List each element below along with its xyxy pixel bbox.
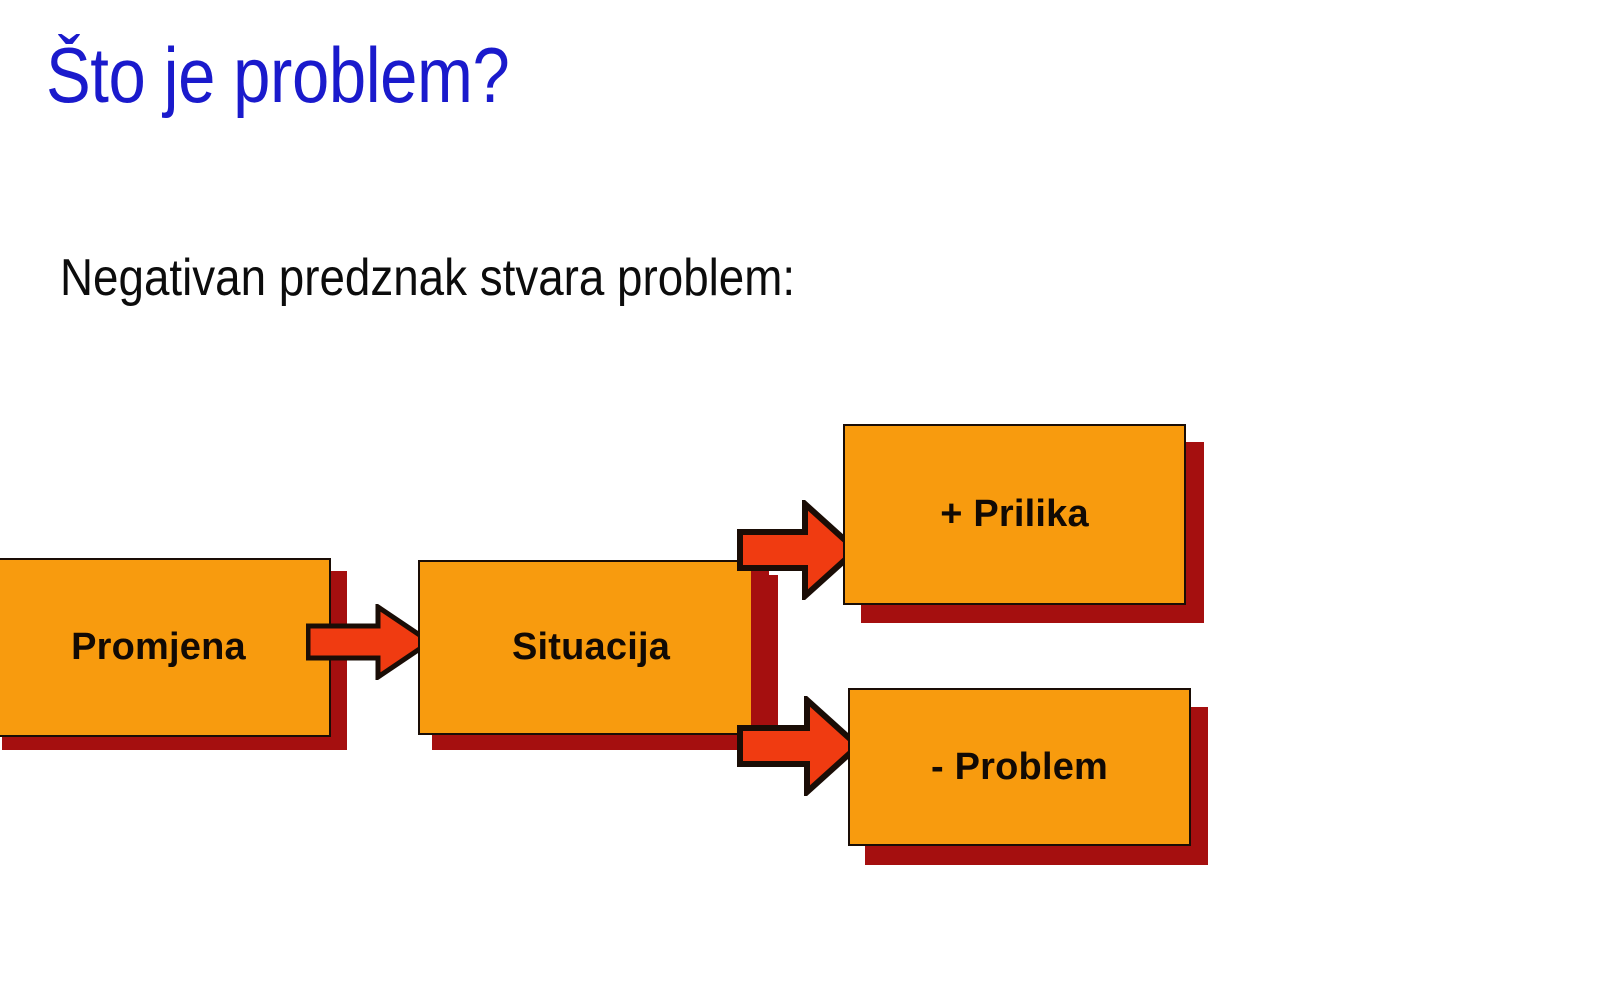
right-arrow-icon bbox=[306, 604, 432, 680]
right-arrow-icon bbox=[737, 500, 859, 600]
node-label: + Prilika bbox=[845, 426, 1184, 603]
slide-canvas: Što je problem? Negativan predznak stvar… bbox=[0, 0, 1600, 1000]
diagram-node-promjena[interactable]: Promjena bbox=[0, 558, 347, 750]
node-label: Promjena bbox=[0, 560, 329, 735]
flow-diagram: Promjena Situacija + bbox=[0, 0, 1600, 1000]
diagram-node-problem[interactable]: - Problem bbox=[848, 688, 1208, 866]
node-face: - Problem bbox=[848, 688, 1191, 846]
diagram-node-prilika[interactable]: + Prilika bbox=[843, 424, 1207, 624]
node-face: Promjena bbox=[0, 558, 331, 737]
right-arrow-icon bbox=[737, 696, 861, 796]
node-label: - Problem bbox=[850, 690, 1189, 844]
node-label: Situacija bbox=[420, 562, 762, 733]
node-face: Situacija bbox=[418, 560, 764, 735]
node-face: + Prilika bbox=[843, 424, 1186, 605]
diagram-node-situacija[interactable]: Situacija bbox=[418, 560, 781, 750]
